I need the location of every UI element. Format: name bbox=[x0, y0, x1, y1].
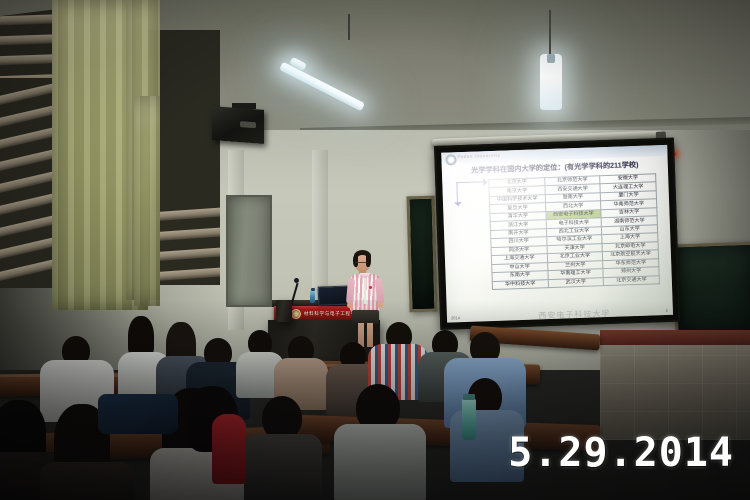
window-blinds-lower bbox=[0, 78, 54, 288]
wall-speaker bbox=[212, 106, 264, 144]
presenter-badge bbox=[369, 286, 372, 289]
audience-body bbox=[244, 434, 322, 500]
classroom-door[interactable] bbox=[226, 195, 272, 307]
light-cord-left bbox=[348, 14, 350, 40]
audience-body bbox=[40, 462, 134, 500]
blackboard-left bbox=[406, 196, 437, 313]
slide-page-number: 8 bbox=[666, 308, 668, 313]
university-list-table: 北京大学北京师范大学安徽大学南京大学西安交通大学大连理工大学中国科学技术大学暨南… bbox=[488, 173, 660, 290]
audience-body-grey-tshirt bbox=[334, 424, 426, 500]
table-cell: 武汉大学 bbox=[548, 277, 604, 287]
speaker-grill bbox=[240, 121, 256, 128]
slide-date-code: 2014 bbox=[451, 315, 460, 320]
lecture-hall-photo: Fudan University 光学学科在国内大学的定位：(有光学学科的211… bbox=[0, 0, 750, 500]
presenter-lanyard bbox=[364, 278, 366, 304]
table-cell: 华中科技大学 bbox=[492, 279, 548, 289]
presenter-arm-right bbox=[375, 278, 385, 305]
presenter bbox=[350, 250, 390, 350]
slide-watermark: 西安电子科技大学 bbox=[538, 308, 610, 322]
presenter-glasses bbox=[355, 262, 368, 266]
table-cell: 北京交通大学 bbox=[604, 276, 660, 286]
presenter-leg-right bbox=[367, 323, 373, 347]
microphone-head bbox=[294, 278, 299, 283]
bottle-cap bbox=[311, 288, 315, 291]
water-bottle-podium bbox=[310, 290, 315, 303]
camera-date-stamp: 5.29.2014 bbox=[508, 430, 734, 476]
projection-screen: Fudan University 光学学科在国内大学的定位：(有光学学科的211… bbox=[434, 138, 680, 330]
university-emblem-icon bbox=[291, 309, 301, 319]
audience-body-red bbox=[212, 414, 246, 484]
blackboard-right bbox=[672, 242, 750, 343]
window-lower-left bbox=[0, 78, 54, 288]
pendant-tube-light-right bbox=[540, 54, 562, 110]
backpack bbox=[98, 394, 178, 434]
presenter-skirt bbox=[352, 310, 379, 324]
water-bottle-audience bbox=[462, 398, 476, 440]
university-seal-icon bbox=[445, 154, 456, 165]
curtain-center-fold bbox=[134, 96, 160, 306]
wall-baseboard bbox=[600, 330, 750, 346]
table-body: 北京大学北京师范大学安徽大学南京大学西安交通大学大连理工大学中国科学技术大学暨南… bbox=[489, 174, 660, 290]
presenter-hand-right bbox=[377, 302, 383, 308]
presenter-hand-left bbox=[347, 302, 353, 308]
slide-arrow-annotation bbox=[456, 181, 488, 205]
water-bottle-cap bbox=[463, 394, 475, 400]
podium-equipment-box bbox=[276, 300, 292, 322]
presentation-slide: Fudan University 光学学科在国内大学的定位：(有光学学科的211… bbox=[441, 145, 673, 323]
floor-tiles bbox=[600, 345, 750, 440]
pendant-notch bbox=[547, 54, 555, 63]
